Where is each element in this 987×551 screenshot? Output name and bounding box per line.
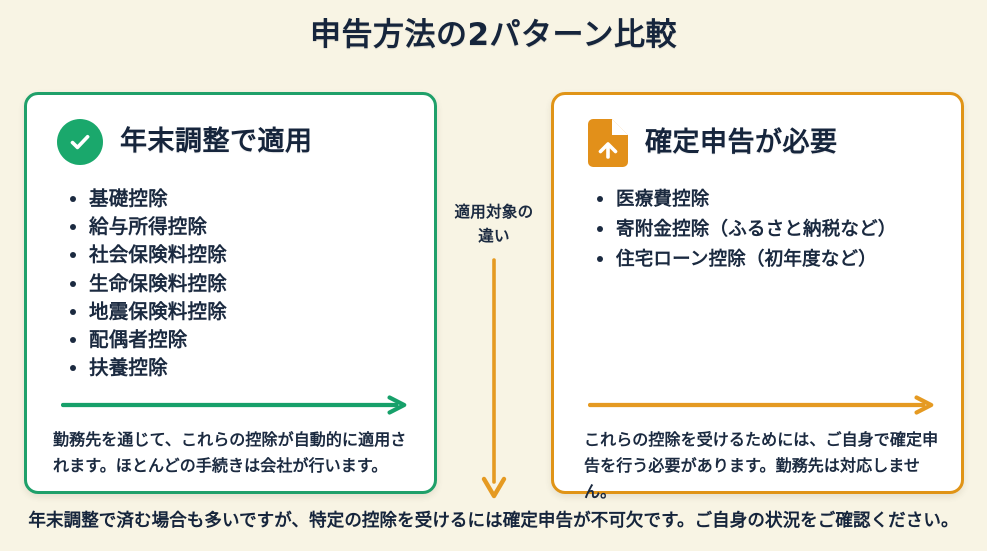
- list-item: 地震保険料控除: [65, 298, 412, 326]
- card-note-left: 勤務先を通じて、これらの控除が自動的に適用されます。ほとんどの手続きは会社が行い…: [53, 427, 412, 479]
- card-header-left: 年末調整で適用: [57, 119, 313, 165]
- list-item: 生命保険料控除: [65, 270, 412, 298]
- flow-arrow-right-green: [61, 395, 412, 415]
- deduction-list-left: 基礎控除 給与所得控除 社会保険料控除 生命保険料控除 地震保険料控除 配偶者控…: [65, 185, 412, 382]
- card-kakutei-shinkoku: 確定申告が必要 医療費控除 寄附金控除（ふるさと納税など） 住宅ローン控除（初年…: [551, 92, 964, 494]
- list-item: 社会保険料控除: [65, 241, 412, 269]
- list-item: 基礎控除: [65, 185, 412, 213]
- infographic-page: 申告方法の2パターン比較 年末調整で適用 基礎控除 給与所得控除 社会保険料控除…: [0, 0, 987, 551]
- connector-label-line2: 違い: [437, 224, 551, 248]
- connector-label-line1: 適用対象の: [437, 200, 551, 224]
- card-note-right: これらの控除を受けるためには、ご自身で確定申告を行う必要があります。勤務先は対応…: [584, 427, 939, 505]
- list-item: 住宅ローン控除（初年度など）: [592, 245, 939, 275]
- card-title-right: 確定申告が必要: [645, 126, 838, 160]
- card-title-left: 年末調整で適用: [120, 125, 313, 159]
- page-caption: 年末調整で済む場合も多いですが、特定の控除を受けるには確定申告が不可欠です。ご自…: [0, 508, 987, 534]
- file-upload-icon: [584, 119, 628, 167]
- page-title: 申告方法の2パターン比較: [0, 14, 987, 56]
- connector-arrow-down: [437, 258, 551, 500]
- list-item: 給与所得控除: [65, 213, 412, 241]
- connector-label: 適用対象の 違い: [437, 200, 551, 248]
- check-circle-icon: [57, 119, 103, 165]
- flow-arrow-right-orange: [588, 395, 939, 415]
- list-item: 扶養控除: [65, 354, 412, 382]
- list-item: 寄附金控除（ふるさと納税など）: [592, 215, 939, 245]
- list-item: 医療費控除: [592, 185, 939, 215]
- card-header-right: 確定申告が必要: [584, 119, 838, 167]
- list-item: 配偶者控除: [65, 326, 412, 354]
- card-nenmatsu-chosei: 年末調整で適用 基礎控除 給与所得控除 社会保険料控除 生命保険料控除 地震保険…: [24, 92, 437, 494]
- deduction-list-right: 医療費控除 寄附金控除（ふるさと納税など） 住宅ローン控除（初年度など）: [592, 185, 939, 275]
